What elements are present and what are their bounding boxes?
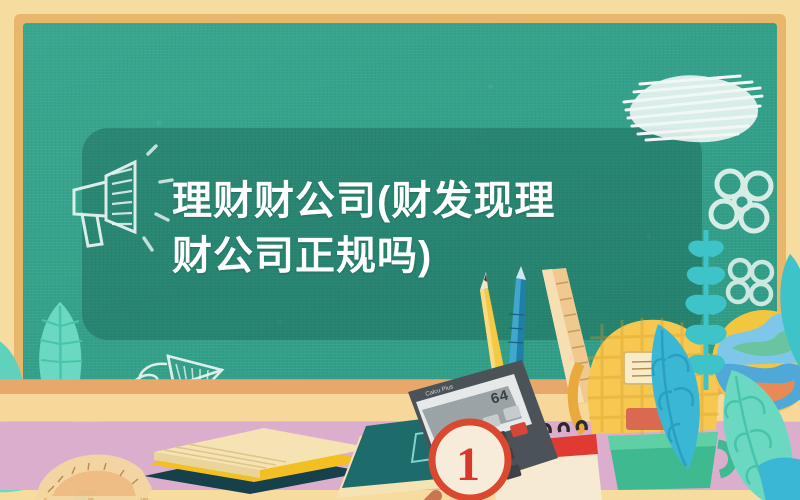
leaf-cluster-right (640, 220, 800, 500)
magnifier-number: 1 (456, 438, 480, 491)
page-title: 理财财公司(财发现理财公司正规吗) (172, 174, 572, 284)
protractor-icon: 090180 (28, 440, 168, 500)
magnifier-icon: 1 (412, 418, 542, 500)
poster-canvas: 64 Calcu Plus AC (0, 0, 800, 500)
